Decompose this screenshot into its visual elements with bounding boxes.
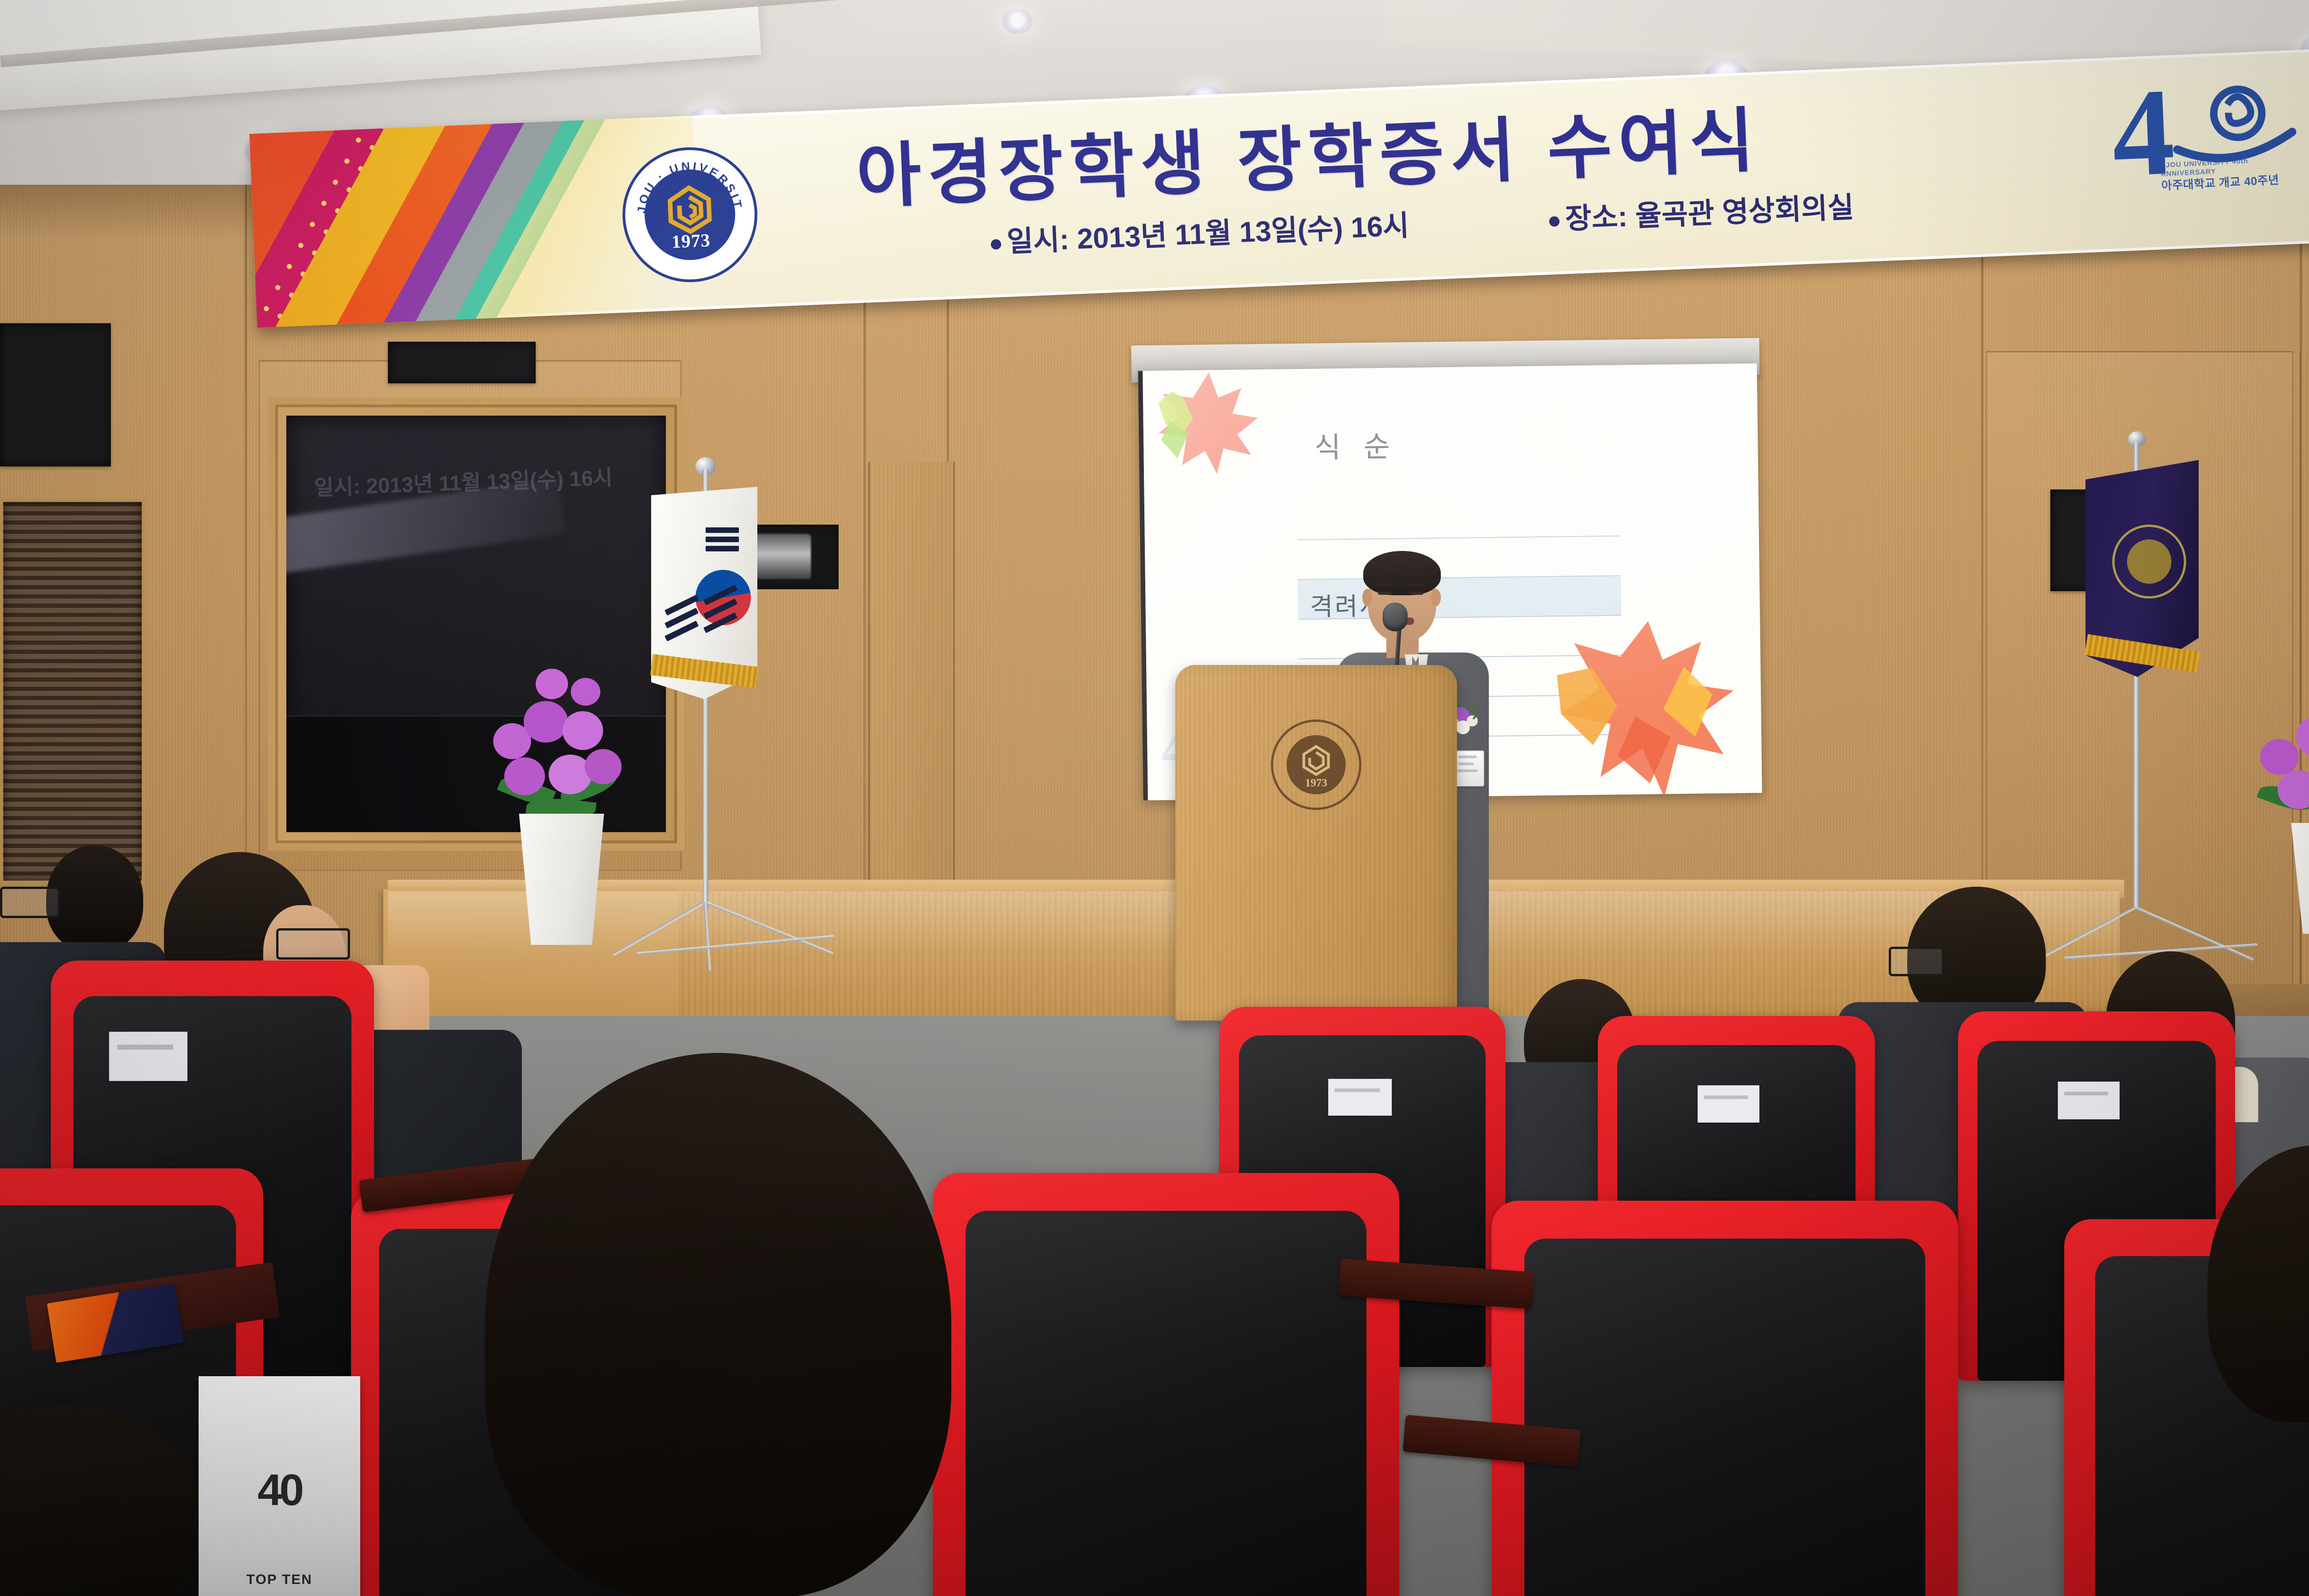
orchid-bloom	[504, 757, 545, 795]
speaker-ear	[1362, 589, 1372, 606]
flag-emblem-core	[2124, 536, 2175, 587]
seat-back-cushion	[1524, 1239, 1926, 1596]
eyeglasses-icon	[0, 887, 60, 918]
seat-reserved-card	[2058, 1082, 2120, 1119]
eyeglasses-icon	[1889, 947, 1944, 976]
slide-row	[1297, 496, 1620, 540]
tote-bag-40-logo: 40	[258, 1465, 302, 1516]
orchid-bloom	[524, 701, 568, 743]
giveaway-tote-bag: 40 TOP TEN	[199, 1376, 360, 1596]
podium-emblem-year: 1973	[1305, 777, 1327, 790]
auditorium-photo-scene: 일시: 2013년 11월 13일(수) 16시 MITSUBISHI	[0, 0, 2309, 1596]
seat-back-cushion	[966, 1211, 1367, 1596]
ceiling-downlight	[1002, 9, 1033, 34]
podium-university-emblem: 1973	[1271, 719, 1361, 810]
speaker-eyebrow	[1377, 583, 1394, 586]
seat-reserved-card	[1698, 1085, 1759, 1123]
ajou-logo-icon	[663, 183, 716, 236]
orchid-bloom	[2260, 739, 2299, 775]
audience-long-hair	[485, 1053, 951, 1596]
speaker-eye	[1378, 592, 1392, 595]
tripod-leg	[703, 902, 711, 971]
flower-pot	[507, 814, 616, 945]
ajou-logo-icon	[1299, 743, 1333, 777]
banner-venue-line: ●장소: 율곡관 영상회의실	[1546, 184, 1855, 238]
flower-arrangement-left	[480, 642, 647, 947]
speaker-hair	[1363, 551, 1441, 595]
eyeglasses-icon	[276, 928, 350, 960]
orchid-bloom	[2296, 716, 2309, 757]
badge-text-line	[1458, 756, 1477, 758]
banner-venue-text: 장소: 율곡관 영상회의실	[1565, 192, 1855, 236]
speaker-eye	[1409, 592, 1423, 595]
slide-title-text: 식 순	[1314, 423, 1397, 465]
flower-pot	[2279, 823, 2309, 934]
orchid-bloom	[536, 669, 568, 699]
lectern-podium: 1973	[1175, 665, 1457, 1021]
bullet-icon: ●	[988, 230, 1004, 257]
speaker-eyebrow	[1408, 583, 1424, 586]
bullet-icon: ●	[1547, 207, 1562, 234]
flower-arrangement-right	[2254, 665, 2309, 924]
display-reflected-banner-text: 일시: 2013년 11월 13일(수) 16시	[314, 460, 638, 502]
south-korea-flag-stand	[656, 457, 873, 965]
banner-date-text: 일시: 2013년 11월 13일(수) 16시	[1006, 210, 1410, 258]
microphone-icon[interactable]	[1383, 603, 1408, 631]
wall-speaker-left	[0, 323, 111, 466]
anniversary-40-logo: 4 AJOU UNIVERSITY 40th ANNIVERSARY 아주대학교…	[2104, 59, 2309, 206]
banner-university-seal: · AJOU · UNIVERSITY · AJOU UNIVERSITY 19…	[620, 145, 760, 285]
maple-leaf-icon	[1146, 365, 1268, 482]
speaker-ear	[1431, 589, 1441, 606]
orchid-bloom	[585, 749, 622, 784]
trigram-icon	[706, 537, 739, 542]
orchid-bloom	[571, 678, 600, 706]
maple-leaf-cluster-icon	[1538, 613, 1753, 800]
trigram-icon	[706, 527, 739, 533]
seat-reserved-card	[1328, 1079, 1392, 1116]
badge-text-line	[1458, 762, 1474, 765]
podium-emblem-core: 1973	[1287, 735, 1346, 794]
audience-head	[46, 845, 143, 951]
tote-bag-brand-text: TOP TEN	[247, 1572, 313, 1588]
tripod-base-bar	[636, 935, 834, 955]
orchid-bloom	[562, 711, 603, 750]
trigram-icon	[706, 546, 739, 551]
seat-reserved-card	[109, 1032, 187, 1082]
wall-speaker-center-left	[388, 342, 536, 383]
flag-emblem-icon	[2107, 519, 2191, 604]
auditorium-seat-front[interactable]	[1492, 1201, 1958, 1596]
seal-year-text: 1973	[671, 229, 711, 252]
auditorium-seat-front[interactable]	[933, 1173, 1399, 1596]
wall-air-vent	[0, 499, 145, 884]
